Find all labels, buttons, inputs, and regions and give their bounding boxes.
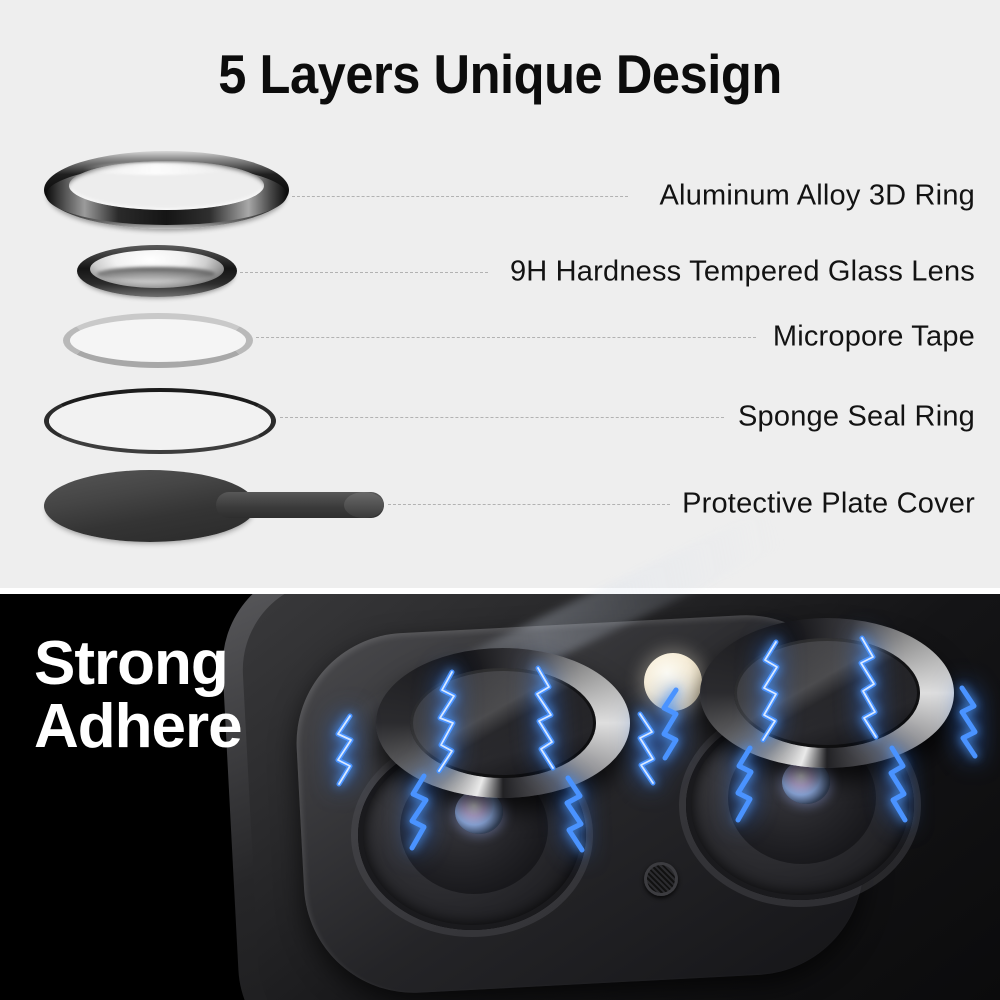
micropore-tape-graphic [63, 313, 253, 368]
layer-label-tape: Micropore Tape [773, 321, 975, 354]
leader-line-plate [388, 504, 670, 505]
layer-label-glass: 9H Hardness Tempered Glass Lens [510, 256, 975, 289]
exploded-layers-panel: 5 Layers Unique Design Aluminum Alloy 3D… [0, 0, 1000, 592]
camera-flash-icon [644, 653, 702, 711]
alloy-ring-graphic [44, 151, 289, 229]
leader-line-alloy [292, 196, 628, 197]
layer-label-sponge: Sponge Seal Ring [738, 401, 975, 434]
camera-microphone-icon [644, 862, 678, 896]
leader-line-tape [256, 337, 756, 338]
leader-line-sponge [280, 417, 724, 418]
lens-protector-left [376, 648, 630, 798]
leader-line-glass [240, 272, 488, 273]
glass-lens-graphic [77, 245, 237, 297]
layer-label-plate: Protective Plate Cover [682, 488, 975, 521]
headline-strong-adhere: Strong Adhere [34, 632, 242, 758]
sponge-seal-ring-graphic [44, 388, 276, 454]
layer-label-alloy: Aluminum Alloy 3D Ring [660, 180, 975, 213]
page-title: 5 Layers Unique Design [40, 42, 960, 106]
protective-plate-graphic [44, 470, 384, 542]
lens-protector-right [700, 618, 954, 768]
product-infographic: 5 Layers Unique Design Aluminum Alloy 3D… [0, 0, 1000, 1000]
